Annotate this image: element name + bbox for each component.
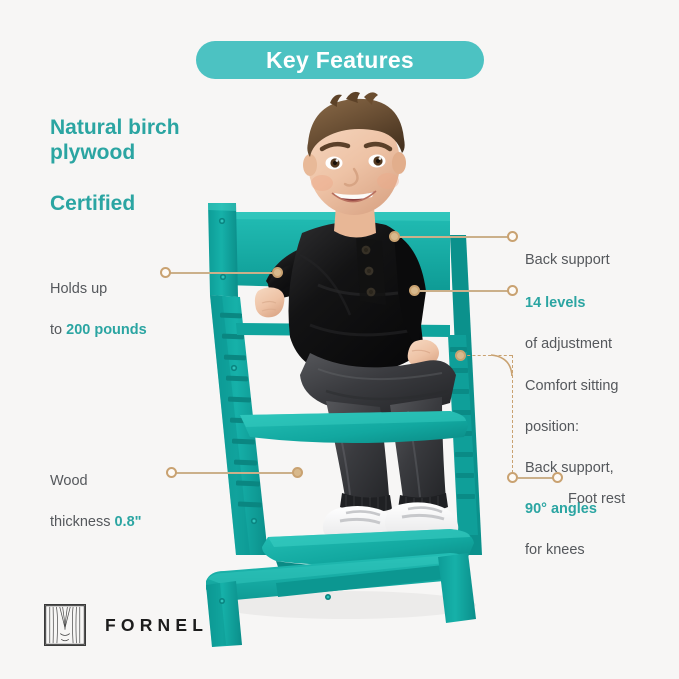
headline-natural-birch-plywood: Natural birch plywood [50,116,250,166]
thickness-line2: thickness [50,514,114,530]
right-angle-arc-icon [489,353,515,379]
connector-dot-thickness-left [166,467,177,478]
annotation-foot-rest: Foot rest [568,468,678,509]
brand-name: FORNEL [105,615,208,636]
annotation-comfort-position: Comfort sitting position: Back support, … [525,355,675,561]
connector-dot-levels-right [507,285,518,296]
key-features-badge: Key Features [196,41,484,79]
thickness-line1: Wood [50,473,88,489]
connector-dot-back-support-right [507,231,518,242]
feature-infographic: Key Features Natural birch plywood Certi… [0,0,679,679]
connector-dot-holds-right [272,267,283,278]
connector-dot-back-support-left [389,231,400,242]
annotation-levels: 14 levels of adjustment [525,272,675,354]
headline-certified: Certified [50,192,135,217]
connector-dot-thickness-right [292,467,303,478]
annotation-holds-up-to: Holds up to 200 pounds [50,258,230,340]
brand-logo: FORNEL [44,604,208,646]
holds-highlight: 200 pounds [66,322,147,338]
connector-line-holds [166,272,278,274]
connector-line-back-support [395,236,513,238]
annotation-wood-thickness: Wood thickness 0.8" [50,450,240,532]
connector-dot-holds-left [160,267,171,278]
wood-grain-square-icon [44,604,86,646]
comfort-line1: Comfort sitting [525,378,618,394]
levels-plain: of adjustment [525,336,612,352]
connector-dot-foot-rest-right [552,472,563,483]
badge-label: Key Features [266,47,414,74]
comfort-line2: position: [525,419,579,435]
thickness-highlight: 0.8" [114,514,141,530]
back-support-label: Back support [525,252,610,268]
annotation-back-support: Back support [525,229,675,270]
connector-line-thickness [172,472,298,474]
holds-line1: Holds up [50,281,107,297]
levels-highlight: 14 levels [525,295,585,311]
comfort-line5: for knees [525,542,585,558]
holds-line2: to [50,322,66,338]
connector-line-levels [415,290,513,292]
child-figure [255,92,462,553]
foot-rest-label: Foot rest [568,491,625,507]
connector-dot-foot-rest-left [507,472,518,483]
connector-dot-levels-left [409,285,420,296]
connector-dot-comfort-seat [455,350,466,361]
